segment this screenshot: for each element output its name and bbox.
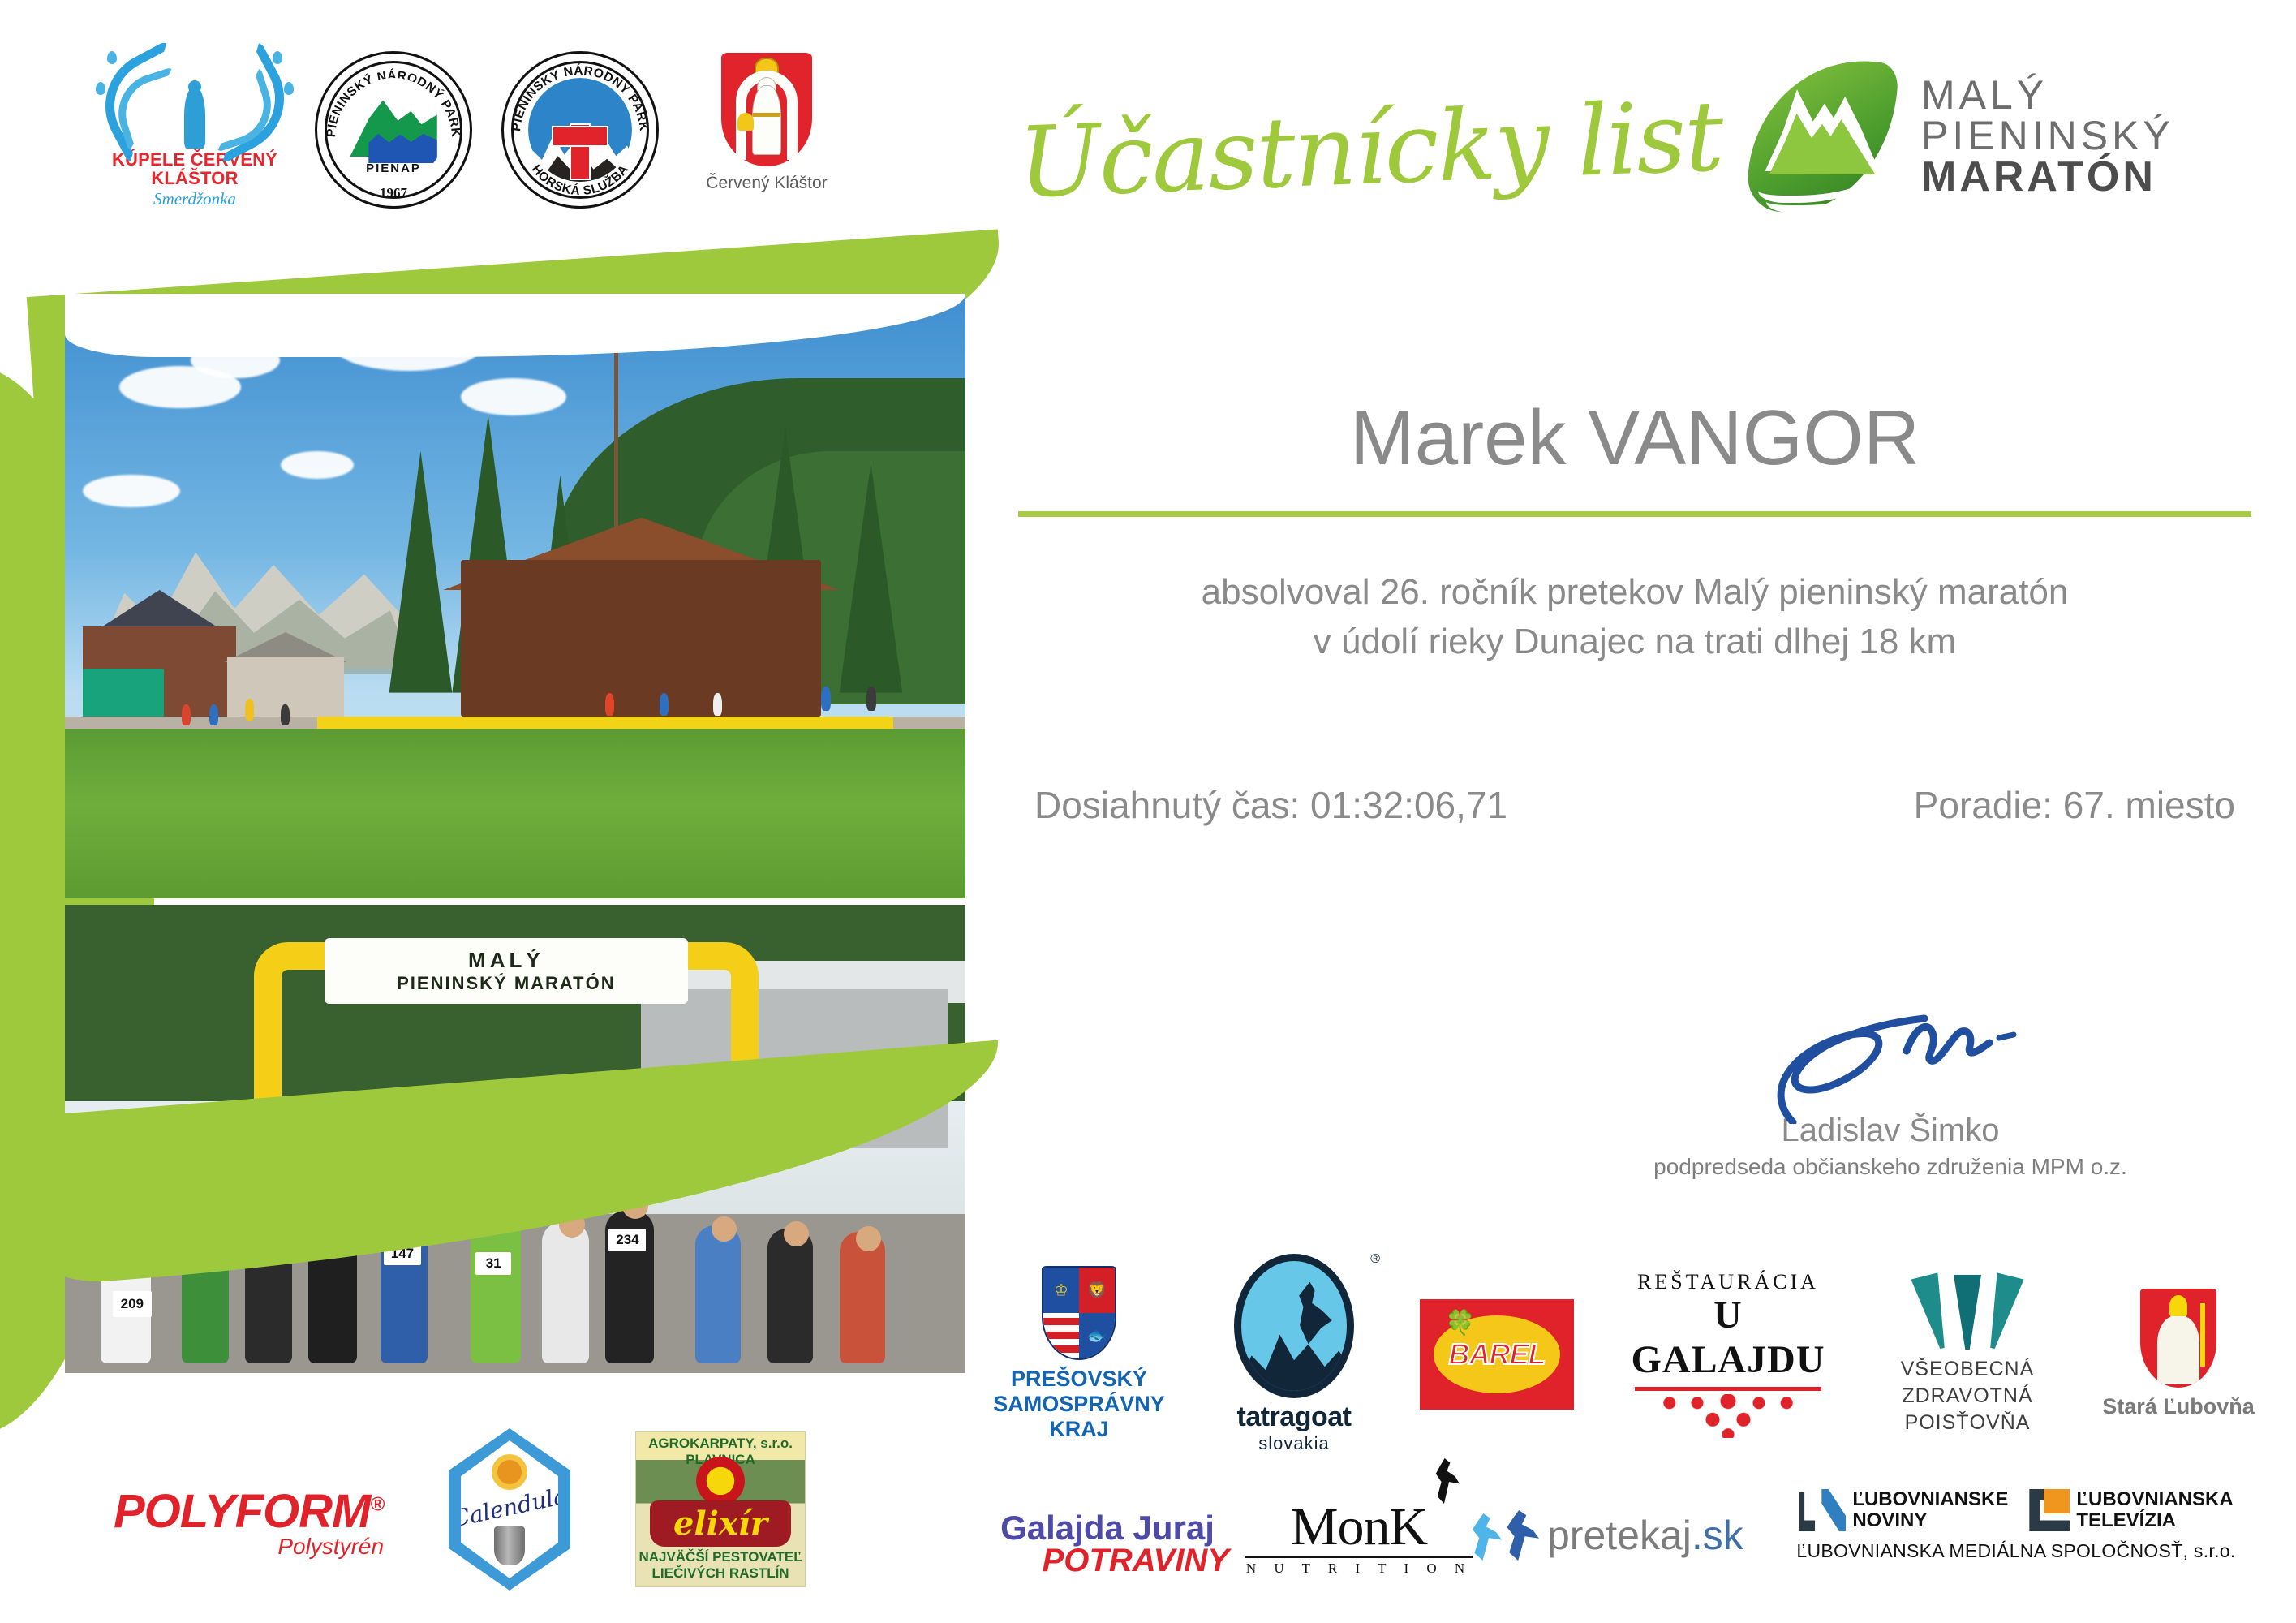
pretekaj-runners-icon bbox=[1489, 1510, 1539, 1561]
lt-logo-icon bbox=[2029, 1489, 2070, 1531]
certificate-page: KÚPELE ČERVENÝ KLÁŠTOR Smerdžonka PIENIN… bbox=[0, 0, 2296, 1623]
elixir-bottom-text-2: LIEČIVÝCH RASTLÍN bbox=[636, 1565, 805, 1582]
arch-label-line1: MALÝ bbox=[468, 948, 544, 973]
pienap-center-label: PIENAP bbox=[342, 161, 445, 175]
brand-line-3: MARATÓN bbox=[1921, 156, 2174, 198]
sponsor-presovsky-samospravny-kraj: ♔ 🦁 🐟 PREŠOVSKÝ SAMOSPRÁVNY KRAJ bbox=[986, 1266, 1172, 1443]
partner-label-line1: KÚPELE ČERVENÝ KLÁŠTOR bbox=[89, 150, 300, 187]
ln-line2: NOVINY bbox=[1852, 1510, 2008, 1531]
sponsor-polyform: POLYFORM® Polystyrén bbox=[114, 1484, 384, 1560]
clover-icon: 🍀 bbox=[1445, 1309, 1475, 1337]
sponsor-galajda-juraj: Galajda Juraj POTRAVINY bbox=[986, 1509, 1229, 1579]
polyform-wordmark: POLYFORM® bbox=[114, 1484, 384, 1539]
top-partner-logos: KÚPELE ČERVENÝ KLÁŠTOR Smerdžonka PIENIN… bbox=[89, 45, 974, 231]
partner-logo-horska-sluzba: PIENINSKÝ NÁRODNÝ PARK HORSKÁ SLUŽBA bbox=[487, 45, 673, 209]
horska-sluzba-arc-text: PIENINSKÝ NÁRODNÝ PARK HORSKÁ SLUŽBA bbox=[504, 54, 656, 206]
stara-lubovna-label: Stará Ľubovňa bbox=[2097, 1394, 2259, 1419]
vzp-label: VŠEOBECNÁ ZDRAVOTNÁ POISŤOVŇA bbox=[1878, 1356, 2057, 1436]
sponsor-agrokarpaty-elixir: AGROKARPATY, s.r.o. PLAVNICA elixír NAJV… bbox=[635, 1431, 806, 1587]
sponsors-row-1: ♔ 🦁 🐟 PREŠOVSKÝ SAMOSPRÁVNY KRAJ ® tatra… bbox=[986, 1254, 2259, 1454]
partner-logo-kupele-cerveny-klastor: KÚPELE ČERVENÝ KLÁŠTOR Smerdžonka bbox=[89, 45, 300, 209]
title-divider bbox=[1018, 511, 2251, 517]
elixir-wordmark: elixír bbox=[673, 1505, 767, 1543]
svg-text:PIENINSKÝ NÁRODNÝ PARK: PIENINSKÝ NÁRODNÝ PARK bbox=[510, 64, 651, 132]
cerveny-klastor-coat-of-arms-icon bbox=[721, 53, 812, 166]
tatragoat-subtitle: slovakia bbox=[1213, 1433, 1375, 1454]
sponsor-monk-nutrition: MonK N U T R I T I O N bbox=[1245, 1500, 1473, 1577]
spa-angel-icon bbox=[89, 45, 300, 150]
arch-label-line2: PIENINSKÝ MARATÓN bbox=[397, 973, 616, 994]
result-row: Dosiahnutý čas: 01:32:06,71 Poradie: 67.… bbox=[1018, 783, 2251, 827]
mountain-leaf-icon bbox=[1752, 57, 1892, 216]
pienap-seal-icon: PIENINSKÝ NÁRODNÝ PARK PIENAP 1967 bbox=[315, 51, 472, 209]
svg-text:HORSKÁ SLUŽBA: HORSKÁ SLUŽBA bbox=[529, 162, 631, 198]
tatragoat-icon bbox=[1234, 1254, 1354, 1398]
finish-time: Dosiahnutý čas: 01:32:06,71 bbox=[1034, 783, 1507, 827]
sponsor-stara-lubovna: Stará Ľubovňa bbox=[2097, 1289, 2259, 1419]
sponsor-tatragoat: ® tatragoat slovakia bbox=[1213, 1254, 1375, 1454]
running-figure-icon bbox=[1432, 1458, 1460, 1504]
u-galajdu-line2: U GALAJDU bbox=[1619, 1293, 1838, 1382]
signature-block: Ladislav Šimko podpredseda občianskeho z… bbox=[1639, 1010, 2142, 1180]
sponsor-barel: 🍀 BAREL bbox=[1416, 1299, 1578, 1410]
vzp-icon bbox=[1920, 1272, 2015, 1350]
runner-bib: 209 bbox=[113, 1291, 152, 1317]
barel-wordmark: BAREL bbox=[1449, 1337, 1546, 1371]
sponsor-calendula: Calendula bbox=[449, 1428, 570, 1591]
participant-description: absolvoval 26. ročník pretekov Malý pien… bbox=[1018, 568, 2251, 666]
partner-label-line2: Smerdžonka bbox=[89, 189, 300, 209]
partner-logo-obec-cerveny-klastor: Červený Kláštor bbox=[673, 45, 860, 193]
sponsors-left-row: POLYFORM® Polystyrén Calendula AGROKARPA… bbox=[114, 1428, 982, 1591]
sponsor-lubovnianska-televizia: ĽUBOVNIANSKA TELEVÍZIA bbox=[2029, 1489, 2233, 1532]
calendula-hex-icon: Calendula bbox=[449, 1428, 570, 1591]
pienap-arc-text: PIENINSKÝ NÁRODNÝ PARK bbox=[317, 54, 470, 206]
pienap-year-label: 1967 bbox=[317, 185, 470, 201]
monk-subtitle: N U T R I T I O N bbox=[1245, 1556, 1473, 1577]
ln-logo-icon bbox=[1799, 1489, 1846, 1531]
presov-region-label: PREŠOVSKÝ SAMOSPRÁVNY KRAJ bbox=[986, 1367, 1172, 1443]
galajda-line2: POTRAVINY bbox=[986, 1543, 1229, 1579]
sponsors-row-2: Galajda Juraj POTRAVINY MonK N U T R I T… bbox=[986, 1489, 2259, 1579]
brand-line-2: PIENINSKÝ bbox=[1921, 115, 2174, 156]
elixir-label-icon: AGROKARPATY, s.r.o. PLAVNICA elixír NAJV… bbox=[635, 1431, 806, 1587]
event-brand-logo: MALÝ PIENINSKÝ MARATÓN bbox=[1752, 57, 2174, 216]
barel-logo-icon: 🍀 BAREL bbox=[1420, 1299, 1574, 1410]
partner-label-cerveny-klastor: Červený Kláštor bbox=[673, 174, 860, 193]
sponsor-restauracia-u-galajdu: REŠTAURÁCIA U GALAJDU bbox=[1619, 1270, 1838, 1438]
brand-line-1: MALÝ bbox=[1921, 75, 2174, 115]
galajda-line1: Galajda Juraj bbox=[986, 1509, 1229, 1548]
sponsor-pretekaj-sk: pretekaj.sk bbox=[1489, 1510, 1756, 1561]
page-title: Účastnícky list bbox=[1017, 80, 1751, 220]
folk-ornament-icon bbox=[1651, 1394, 1805, 1438]
media-company-footer: ĽUBOVNIANSKA MEDIÁLNA SPOLOČNOSŤ, s.r.o. bbox=[1773, 1540, 2259, 1562]
calendula-wordmark: Calendula bbox=[450, 1482, 570, 1532]
registered-mark-icon: ® bbox=[1370, 1252, 1380, 1267]
handwritten-signature-icon bbox=[1639, 1010, 2142, 1124]
participant-name: Marek VANGOR bbox=[1018, 394, 2251, 483]
pretekaj-wordmark: pretekaj.sk bbox=[1547, 1512, 1743, 1559]
sponsor-lubovnianske-noviny: ĽUBOVNIANSKE NOVINY bbox=[1799, 1489, 2008, 1532]
lt-line1: ĽUBOVNIANSKA bbox=[2076, 1489, 2233, 1510]
photo-venue bbox=[65, 294, 965, 898]
sponsor-vseobecna-zdravotna-poistovna: VŠEOBECNÁ ZDRAVOTNÁ POISŤOVŇA bbox=[1878, 1272, 2057, 1436]
ln-line1: ĽUBOVNIANSKE bbox=[1852, 1489, 2008, 1510]
presov-region-crest-icon: ♔ 🦁 🐟 bbox=[1042, 1266, 1116, 1360]
lt-line2: TELEVÍZIA bbox=[2076, 1510, 2233, 1531]
svg-text:PIENINSKÝ NÁRODNÝ PARK: PIENINSKÝ NÁRODNÝ PARK bbox=[325, 69, 462, 138]
media-partner-group: ĽUBOVNIANSKE NOVINY ĽUBOVNIANSKA TELEVÍZ… bbox=[1773, 1489, 2259, 1562]
u-galajdu-line1: REŠTAURÁCIA bbox=[1619, 1270, 1838, 1294]
tatragoat-wordmark: tatragoat bbox=[1213, 1401, 1375, 1433]
stara-lubovna-crest-icon bbox=[2140, 1289, 2216, 1388]
runner-bib: 234 bbox=[608, 1229, 646, 1251]
event-photo-panel: MALÝ PIENINSKÝ MARATÓN 209 74 246 bbox=[49, 268, 982, 1428]
runner-bib: 31 bbox=[475, 1252, 511, 1275]
placement: Poradie: 67. miesto bbox=[1914, 783, 2235, 827]
monk-wordmark: MonK bbox=[1245, 1500, 1473, 1554]
horska-sluzba-emblem bbox=[528, 78, 632, 182]
description-line-1: absolvoval 26. ročník pretekov Malý pien… bbox=[1018, 568, 2251, 618]
partner-logo-pieninsky-narodny-park: PIENINSKÝ NÁRODNÝ PARK PIENAP 1967 bbox=[300, 45, 487, 209]
signatory-role: podpredseda občianskeho združenia MPM o.… bbox=[1639, 1154, 2142, 1180]
description-line-2: v údolí rieky Dunajec na trati dlhej 18 … bbox=[1018, 618, 2251, 667]
horska-sluzba-seal-icon: PIENINSKÝ NÁRODNÝ PARK HORSKÁ SLUŽBA bbox=[501, 51, 659, 209]
elixir-bottom-text-1: NAJVÄČŠÍ PESTOVATEĽ bbox=[636, 1549, 805, 1565]
